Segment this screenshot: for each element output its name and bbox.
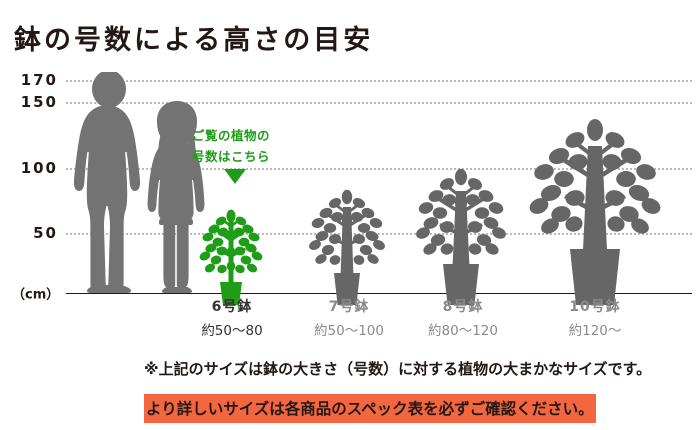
plant-6go <box>192 190 270 305</box>
ytick-150: 150 <box>21 93 58 111</box>
callout-text: ご覧の植物の 号数はこちら <box>192 126 270 167</box>
pot-range: 約50〜80 <box>176 319 288 339</box>
callout-line-2: 号数はこちら <box>192 149 270 164</box>
ytick-50: 50 <box>33 224 58 242</box>
plant-10go <box>520 110 670 305</box>
footnote-primary: ※上記のサイズは鉢の大きさ（号数）に対する植物の大まかなサイズです。 <box>144 358 651 379</box>
xlabel-10go: 10号鉢 約120〜 <box>532 296 658 339</box>
ytick-170: 170 <box>21 71 58 89</box>
pot-label: 8号鉢 <box>402 296 524 316</box>
pot-label: 7号鉢 <box>290 296 408 316</box>
page-title: 鉢の号数による高さの目安 <box>14 18 373 57</box>
plot-area: 170 150 100 50 （cm） <box>0 60 700 305</box>
axis-unit-label: （cm） <box>12 284 59 303</box>
plant-size-chart: 鉢の号数による高さの目安 170 150 100 50 （cm） <box>0 0 700 430</box>
plant-8go <box>408 153 514 305</box>
plant-7go <box>302 173 392 305</box>
footnote-highlight: より詳しいサイズは各商品のスペック表を必ずご確認ください。 <box>144 394 596 423</box>
pot-range: 約120〜 <box>532 319 658 339</box>
ytick-100: 100 <box>21 159 58 177</box>
pot-label: 6号鉢 <box>176 296 288 316</box>
pot-label: 10号鉢 <box>532 296 658 316</box>
pot-range: 約50〜100 <box>290 319 408 339</box>
xlabel-6go: 6号鉢 約50〜80 <box>176 296 288 339</box>
pot-range: 約80〜120 <box>402 319 524 339</box>
callout-line-1: ご覧の植物の <box>192 128 270 143</box>
xlabel-7go: 7号鉢 約50〜100 <box>290 296 408 339</box>
gridline-170 <box>66 80 692 82</box>
footnote-highlight-wrap: より詳しいサイズは各商品のスペック表を必ずご確認ください。 <box>144 394 596 423</box>
xlabel-8go: 8号鉢 約80〜120 <box>402 296 524 339</box>
man-silhouette <box>70 72 148 293</box>
down-triangle-icon <box>224 169 246 184</box>
